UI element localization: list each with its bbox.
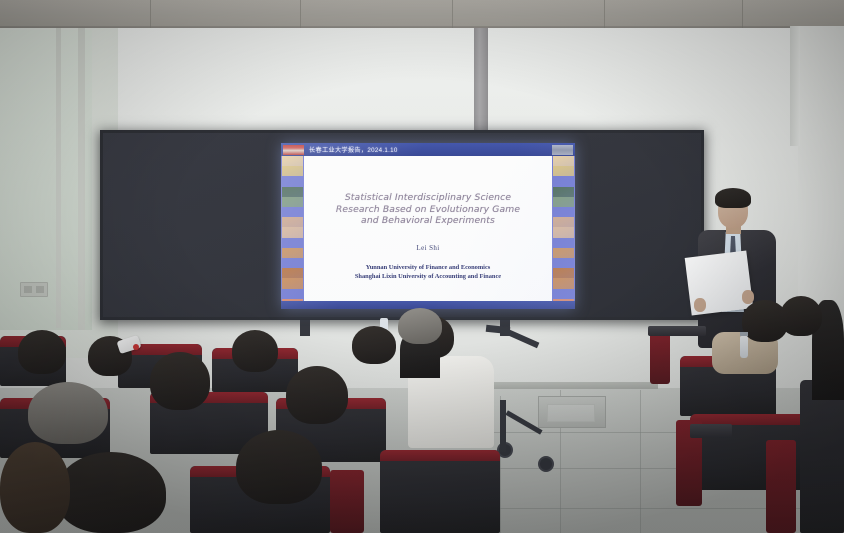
- slide-thumbnail: [553, 176, 574, 186]
- ceiling-seam: [452, 0, 453, 30]
- slide-affiliations: Yunnan University of Finance and Economi…: [310, 264, 546, 281]
- power-outlet[interactable]: [20, 282, 48, 297]
- audience-head: [780, 296, 822, 336]
- audience-head: [150, 352, 210, 410]
- audience-head: [56, 452, 166, 533]
- slide-title-line: Statistical Interdisciplinary Science: [310, 192, 546, 204]
- seat-armrest-panel: [330, 470, 364, 533]
- affiliation-line: Yunnan University of Finance and Economi…: [310, 264, 546, 273]
- seat-back: [380, 450, 500, 533]
- phone-camera-icon: [133, 344, 139, 350]
- seat-armrest-panel: [650, 330, 670, 384]
- stand-post: [500, 400, 506, 452]
- floor-cabinet: [538, 396, 606, 428]
- presentation-slide[interactable]: 长春工业大学报告，2024.1.10 Statistical Interdisc…: [281, 143, 575, 309]
- slide-thumbnail: [553, 156, 574, 166]
- slide-title-line: Research Based on Evolutionary Game: [310, 204, 546, 216]
- slide-thumbnail: [282, 248, 303, 258]
- seat-armrest: [648, 326, 706, 336]
- seat-trim: [380, 450, 500, 461]
- audience-head: [286, 366, 348, 424]
- audience-head: [398, 308, 442, 344]
- seat-armrest-panel: [766, 440, 796, 533]
- ceiling-seam: [150, 0, 151, 30]
- slide-thumbnail: [282, 207, 303, 217]
- slide-thumbnail: [553, 217, 574, 227]
- slide-title-line: and Behavioral Experiments: [310, 215, 546, 227]
- water-bottle: [740, 336, 748, 358]
- presenter-hand: [694, 298, 706, 312]
- slide-thumbnail: [282, 197, 303, 207]
- audience-head: [0, 442, 70, 533]
- slide-thumbnail: [553, 268, 574, 278]
- slide-thumbnail: [282, 217, 303, 227]
- thumbnail-strip-right: [552, 156, 575, 309]
- audience-head: [236, 430, 322, 504]
- university-logo-icon: [283, 145, 304, 155]
- secondary-logo-icon: [552, 145, 573, 155]
- slide-thumbnail: [282, 176, 303, 186]
- lecture-hall-photo: 长春工业大学报告，2024.1.10 Statistical Interdisc…: [0, 0, 844, 533]
- slide-thumbnail: [282, 187, 303, 197]
- slide-thumbnail: [553, 207, 574, 217]
- affiliation-line: Shanghai Lixin University of Accounting …: [310, 273, 546, 282]
- slide-thumbnail: [282, 278, 303, 288]
- slide-thumbnail: [282, 258, 303, 268]
- audience-head: [232, 330, 278, 372]
- slide-thumbnail: [553, 258, 574, 268]
- baseboard: [488, 382, 658, 389]
- slide-thumbnail: [553, 248, 574, 258]
- slide-thumbnail: [282, 166, 303, 176]
- slide-thumbnail: [282, 238, 303, 248]
- audience-head: [28, 382, 108, 444]
- ceiling-seam: [300, 0, 301, 30]
- slide-thumbnail: [553, 197, 574, 207]
- slide-header-bar: 长春工业大学报告，2024.1.10: [281, 143, 575, 156]
- slide-thumbnail: [282, 289, 303, 299]
- slide-footer-bar: [281, 301, 575, 309]
- slide-content-area: Statistical Interdisciplinary Science Re…: [304, 156, 552, 309]
- floor-grout-line: [640, 390, 641, 533]
- seat-armrest: [690, 424, 732, 438]
- slide-title: Statistical Interdisciplinary Science Re…: [310, 192, 546, 227]
- stand-caster: [538, 456, 554, 472]
- slide-thumbnail: [553, 227, 574, 237]
- slide-thumbnail: [553, 238, 574, 248]
- slide-thumbnail: [553, 166, 574, 176]
- presenter-hair: [715, 188, 751, 208]
- right-wall: [798, 26, 844, 326]
- slide-thumbnail: [282, 268, 303, 278]
- ceiling-seam: [604, 0, 605, 30]
- slide-author: Lei Shi: [310, 244, 546, 252]
- audience-head: [18, 330, 66, 374]
- window-mullion: [56, 28, 61, 328]
- seat-back: [800, 380, 844, 533]
- presenter-hand: [742, 290, 754, 304]
- door-jamb: [790, 26, 800, 146]
- slide-thumbnail: [553, 187, 574, 197]
- ceiling: [0, 0, 844, 30]
- audience-head: [352, 326, 396, 364]
- window-mullion: [78, 28, 85, 330]
- slide-thumbnail: [282, 156, 303, 166]
- bottle-cap: [740, 332, 748, 336]
- panel-leg: [300, 320, 310, 336]
- slide-thumbnail: [282, 227, 303, 237]
- slide-thumbnail: [553, 289, 574, 299]
- ceiling-seam: [742, 0, 743, 30]
- thumbnail-strip-left: [281, 156, 304, 309]
- slide-thumbnail: [553, 278, 574, 288]
